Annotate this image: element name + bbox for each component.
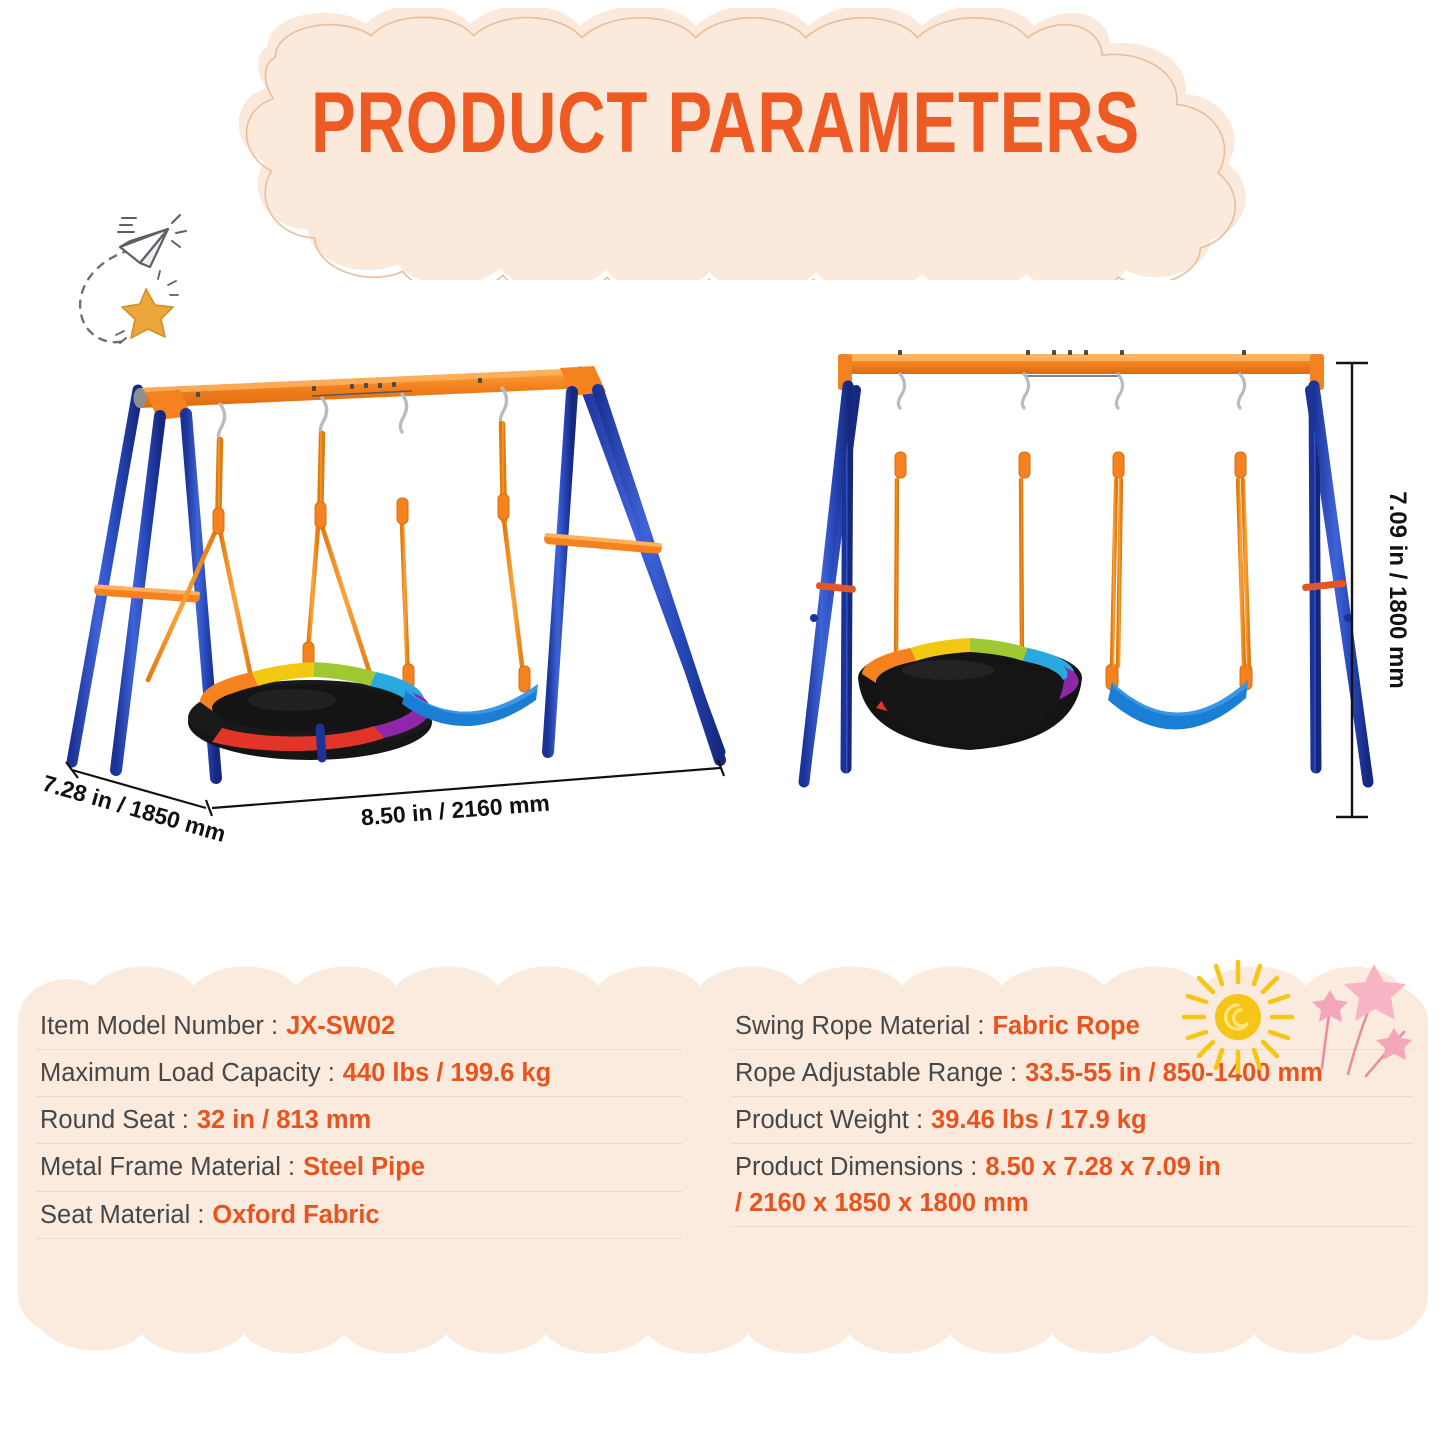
infographic-canvas: PRODUCT PARAMETERS — [0, 0, 1445, 1445]
spec-value: JX-SW02 — [286, 1010, 395, 1042]
spec-label: Product Dimensions : — [735, 1151, 977, 1183]
spec-value: 8.50 x 7.28 x 7.09 in — [985, 1151, 1220, 1183]
spec-value: Oxford Fabric — [212, 1199, 379, 1231]
spec-row: Product Dimensions : 8.50 x 7.28 x 7.09 … — [731, 1151, 1413, 1226]
spec-label: Metal Frame Material : — [40, 1151, 295, 1183]
spec-value: Fabric Rope — [992, 1010, 1139, 1042]
spec-row: Round Seat : 32 in / 813 mm — [36, 1104, 683, 1144]
spec-value: 440 lbs / 199.6 kg — [343, 1057, 551, 1089]
spec-row: Maximum Load Capacity : 440 lbs / 199.6 … — [36, 1057, 683, 1097]
spec-label: Item Model Number : — [40, 1010, 278, 1042]
spec-label: Product Weight : — [735, 1104, 923, 1136]
spec-panel: Item Model Number : JX-SW02 Maximum Load… — [18, 958, 1428, 1363]
spec-label: Maximum Load Capacity : — [40, 1057, 335, 1089]
dimension-depth-label: 7.28 in / 1850 mm — [40, 770, 229, 847]
spec-row: Item Model Number : JX-SW02 — [36, 1010, 683, 1050]
page-title: PRODUCT PARAMETERS — [252, 80, 1200, 166]
spec-column-left: Item Model Number : JX-SW02 Maximum Load… — [18, 958, 683, 1363]
spec-value: 39.46 lbs / 17.9 kg — [931, 1104, 1146, 1136]
spec-value: Steel Pipe — [303, 1151, 425, 1183]
spec-row: Product Weight : 39.46 lbs / 17.9 kg — [731, 1104, 1413, 1144]
dimension-width-label: 8.50 in / 2160 mm — [360, 790, 551, 831]
spec-label: Swing Rope Material : — [735, 1010, 984, 1042]
spec-row: Seat Material : Oxford Fabric — [36, 1199, 683, 1239]
spec-value: 32 in / 813 mm — [197, 1104, 371, 1136]
spec-value-second-line: / 2160 x 1850 x 1800 mm — [735, 1187, 1409, 1219]
paper-plane-icon — [58, 205, 208, 345]
spec-label: Seat Material : — [40, 1199, 204, 1231]
spec-label: Round Seat : — [40, 1104, 189, 1136]
pink-stars-icon — [1296, 958, 1426, 1083]
spec-row: Metal Frame Material : Steel Pipe — [36, 1151, 683, 1191]
spec-label: Rope Adjustable Range : — [735, 1057, 1017, 1089]
dimension-height-group: 7.09 in / 1800 mm — [1298, 355, 1433, 825]
swing-set-perspective-illustration: 8.50 in / 2160 mm 7.28 in / 1850 mm — [20, 330, 780, 930]
sun-icon — [1178, 958, 1298, 1076]
dimension-height-label: 7.09 in / 1800 mm — [1384, 491, 1411, 688]
